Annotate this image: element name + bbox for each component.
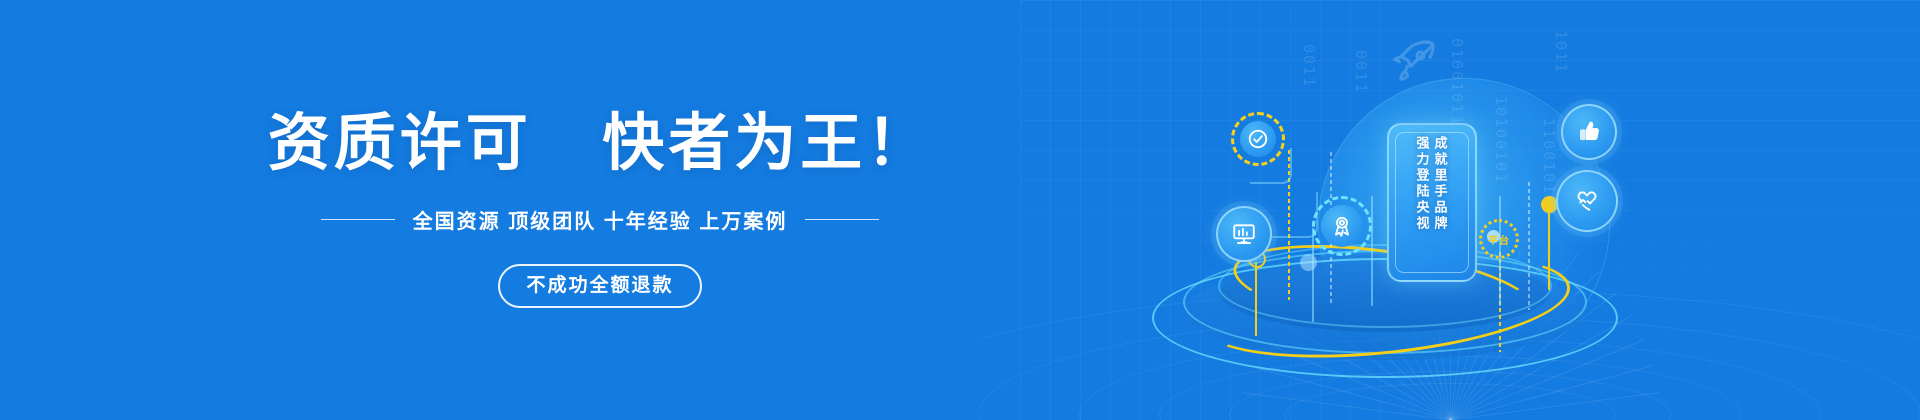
pin-dot-cyan-2 <box>1300 254 1317 271</box>
dotted-stem-white-2 <box>1528 182 1530 310</box>
pin-stem-yellow-2 <box>1548 206 1550 290</box>
binary-decoration-4: 1011 <box>1552 30 1570 74</box>
monitor-chart-badge[interactable] <box>1216 206 1272 262</box>
headline-part-1: 资质许可 <box>268 109 532 178</box>
refund-guarantee-button[interactable]: 不成功全额退款 <box>498 264 701 308</box>
page-title: 资质许可 快者为王！ <box>268 113 933 175</box>
banner-content: 资质许可 快者为王！ 全国资源 顶级团队 十年经验 上万案例 不成功全额退款 <box>0 0 1200 420</box>
check-circle-badge[interactable] <box>1231 112 1285 166</box>
award-ribbon-badge[interactable] <box>1312 196 1372 256</box>
thumbs-up-icon <box>1576 119 1602 145</box>
subtitle-rule-right <box>805 219 879 220</box>
hero-banner: 0011 01001011 10100101 1011 110010110 00… <box>0 0 1920 420</box>
subtitle-row: 全国资源 顶级团队 十年经验 上万案例 <box>321 205 880 234</box>
handshake-heart-badge[interactable] <box>1556 170 1618 232</box>
check-circle-icon <box>1240 121 1276 157</box>
subtitle-rule-left <box>321 219 395 220</box>
thumbs-up-badge[interactable] <box>1561 104 1617 160</box>
device-slogan: 成就里手品牌 强力登陆央视 <box>1392 136 1470 268</box>
handshake-heart-icon <box>1572 186 1602 216</box>
pin-stem-cyan-2 <box>1371 196 1373 306</box>
platform-label: 平台 <box>1479 219 1519 259</box>
headline-part-2: 快者为王！ <box>602 109 932 178</box>
device-slogan-right: 成就里手品牌 <box>1434 136 1447 268</box>
rocket-icon <box>1388 36 1440 93</box>
device-slogan-left: 强力登陆央视 <box>1416 136 1429 268</box>
binary-decoration-1: 0011 <box>1352 50 1370 94</box>
pin-stem-cyan-1 <box>1312 228 1314 322</box>
binary-decoration-3: 10100101 <box>1492 96 1510 184</box>
subtitle-text: 全国资源 顶级团队 十年经验 上万案例 <box>413 205 788 234</box>
binary-decoration-6: 0011 <box>1300 44 1318 88</box>
pin-stem-yellow-1 <box>1255 262 1257 336</box>
monitor-chart-icon <box>1231 221 1257 247</box>
platform-label-text: 平台 <box>1488 232 1510 247</box>
award-ribbon-icon <box>1321 205 1363 247</box>
binary-decoration-2: 01001011 <box>1448 38 1466 126</box>
